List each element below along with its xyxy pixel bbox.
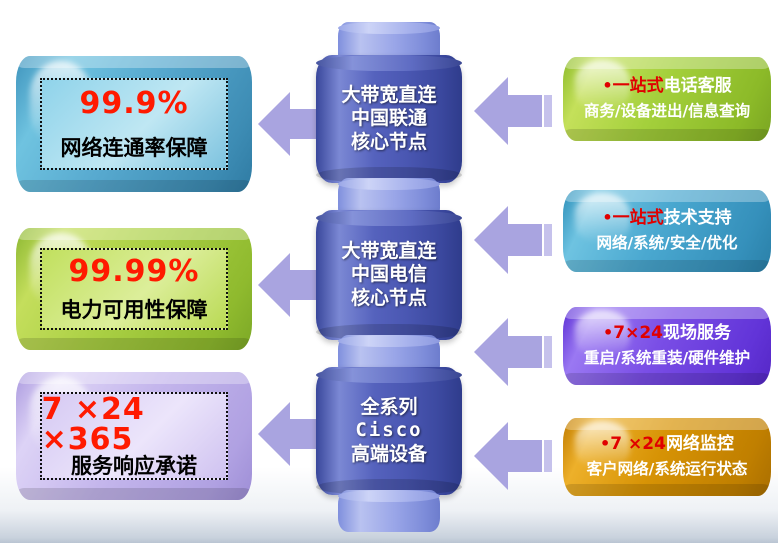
left-box-response-commitment[interactable]: 7 ×24 ×365 服务响应承诺 (16, 372, 252, 500)
cap-top-ellipse (338, 490, 440, 502)
center-node-telecom[interactable]: 大带宽直连 中国电信 核心节点 (316, 210, 462, 340)
dashed-inner-panel: 99.9% 网络连通率保障 (40, 78, 229, 171)
right-box-heading: •一站式技术支持 (602, 210, 731, 227)
metric-value: 99.9% (79, 89, 188, 119)
cylinder-bottom-rim (16, 180, 252, 192)
cap-top-ellipse (338, 22, 440, 34)
metric-caption: 网络连通率保障 (61, 138, 208, 159)
node-line-3: 核心节点 (351, 287, 427, 310)
heading-rest: 技术支持 (664, 208, 732, 228)
node-line-2: 中国联通 (351, 107, 427, 130)
right-box-detail: 重启/系统重装/硬件维护 (576, 350, 758, 366)
metric-value: 99.99% (69, 257, 200, 287)
diagram-canvas: 99.9% 网络连通率保障 99.99% 电力可用性保障 7 ×24 ×365 … (0, 0, 778, 543)
left-box-power-availability[interactable]: 99.99% 电力可用性保障 (16, 228, 252, 350)
center-node-unicom[interactable]: 大带宽直连 中国联通 核心节点 (316, 55, 462, 183)
cylinder-top-rim (16, 56, 252, 68)
cylinder-top-rim (16, 228, 252, 240)
stack-bottom-cap (338, 490, 440, 532)
heading-highlight: 一站式 (613, 208, 664, 228)
metric-value: 7 ×24 ×365 (42, 395, 227, 455)
metric-caption: 电力可用性保障 (61, 300, 208, 321)
arrow-from-right-box-2-icon (472, 197, 554, 283)
node-line-1: 大带宽直连 (341, 240, 436, 263)
right-box-heading: •7×24现场服务 (603, 325, 731, 342)
node-line-2: Cisco (355, 419, 422, 442)
right-box-phone-service[interactable]: •一站式电话客服 商务/设备进出/信息查询 (563, 57, 771, 141)
dashed-inner-panel: 7 ×24 ×365 服务响应承诺 (40, 392, 229, 479)
node-line-3: 核心节点 (351, 131, 427, 154)
right-box-detail: 商务/设备进出/信息查询 (576, 103, 758, 119)
node-line-1: 大带宽直连 (341, 84, 436, 107)
right-box-content: •7 ×24网络监控 客户网络/系统运行状态 (563, 418, 771, 496)
right-box-heading: •7 ×24网络监控 (600, 436, 734, 453)
right-box-onsite-service[interactable]: •7×24现场服务 重启/系统重装/硬件维护 (563, 307, 771, 385)
cylinder-top-rim (16, 372, 252, 384)
center-node-label: 大带宽直连 中国电信 核心节点 (316, 210, 462, 340)
arrow-from-right-box-1-icon (472, 68, 554, 154)
node-line-1: 全系列 (360, 396, 417, 419)
heading-rest: 网络监控 (666, 434, 734, 454)
heading-rest: 电话客服 (664, 76, 732, 96)
node-line-3: 高端设备 (351, 443, 427, 466)
bullet-icon: • (603, 323, 613, 342)
heading-highlight: 一站式 (613, 76, 664, 96)
center-node-cisco[interactable]: 全系列 Cisco 高端设备 (316, 367, 462, 495)
right-box-content: •一站式技术支持 网络/系统/安全/优化 (563, 190, 771, 272)
center-backbone-stack: 大带宽直连 中国联通 核心节点 大带宽直连 中国电信 核心节点 全系列 (316, 0, 462, 543)
right-box-tech-support[interactable]: •一站式技术支持 网络/系统/安全/优化 (563, 190, 771, 272)
right-box-content: •一站式电话客服 商务/设备进出/信息查询 (563, 57, 771, 141)
center-node-label: 大带宽直连 中国联通 核心节点 (316, 55, 462, 183)
arrow-from-right-box-3-icon (472, 309, 554, 395)
right-box-content: •7×24现场服务 重启/系统重装/硬件维护 (563, 307, 771, 385)
node-line-2: 中国电信 (351, 263, 427, 286)
dashed-inner-panel: 99.99% 电力可用性保障 (40, 248, 229, 331)
bullet-icon: • (602, 76, 612, 95)
heading-highlight: 7×24 (613, 323, 663, 343)
connector-top-ellipse (338, 335, 440, 347)
bullet-icon: • (602, 208, 612, 227)
right-box-network-monitoring[interactable]: •7 ×24网络监控 客户网络/系统运行状态 (563, 418, 771, 496)
arrow-from-right-box-4-icon (472, 413, 554, 499)
right-box-detail: 网络/系统/安全/优化 (589, 235, 746, 251)
bullet-icon: • (600, 434, 610, 453)
heading-highlight: 7 ×24 (610, 434, 666, 454)
left-box-network-uptime[interactable]: 99.9% 网络连通率保障 (16, 56, 252, 192)
right-box-detail: 客户网络/系统运行状态 (579, 461, 756, 477)
metric-caption: 服务响应承诺 (71, 456, 197, 477)
heading-rest: 现场服务 (663, 323, 731, 343)
right-box-heading: •一站式电话客服 (602, 78, 731, 95)
cylinder-bottom-rim (16, 338, 252, 350)
connector-top-ellipse (338, 178, 440, 190)
cylinder-bottom-rim (16, 488, 252, 500)
center-node-label: 全系列 Cisco 高端设备 (316, 367, 462, 495)
